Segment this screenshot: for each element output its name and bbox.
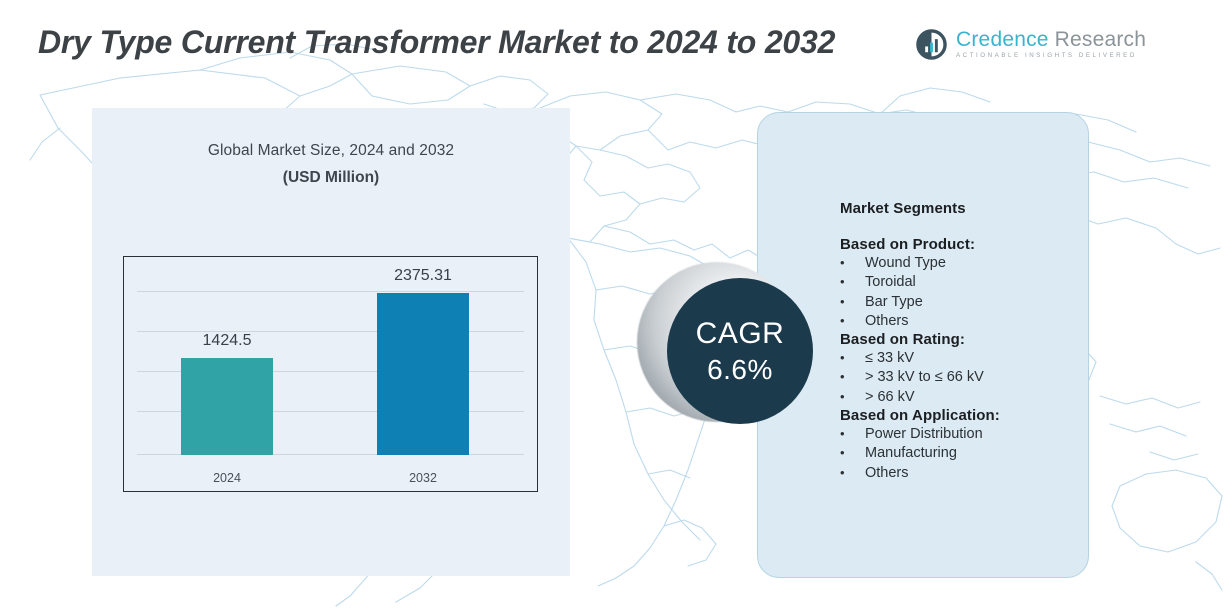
segments-title: Market Segments xyxy=(840,200,1090,217)
segment-item: •Power Distribution xyxy=(840,425,1090,444)
infographic-canvas: Dry Type Current Transformer Market to 2… xyxy=(0,0,1232,610)
cagr-label: CAGR xyxy=(696,319,785,349)
segment-item-label: Wound Type xyxy=(865,254,946,273)
segment-group-heading: Based on Product: xyxy=(840,236,1090,253)
segment-item-label: Power Distribution xyxy=(865,425,983,444)
segment-item: •> 33 kV to ≤ 66 kV xyxy=(840,368,1090,387)
market-segments: Market Segments Based on Product:•Wound … xyxy=(840,200,1090,483)
segment-item: •Wound Type xyxy=(840,254,1090,273)
segment-item: •> 66 kV xyxy=(840,388,1090,407)
bar-group-2032: 2375.312032 xyxy=(377,293,469,455)
bullet-icon: • xyxy=(840,273,865,290)
segment-item: •Others xyxy=(840,312,1090,331)
bar-group-2024: 1424.52024 xyxy=(181,358,273,455)
logo-tagline: Actionable Insights Delivered xyxy=(956,53,1146,59)
segment-item-label: > 33 kV to ≤ 66 kV xyxy=(865,368,984,387)
chart-caption-line1: Global Market Size, 2024 and 2032 xyxy=(92,142,570,160)
segment-item: •≤ 33 kV xyxy=(840,349,1090,368)
bar-value-label: 2375.31 xyxy=(394,267,452,285)
segment-item: •Bar Type xyxy=(840,293,1090,312)
segment-item: •Manufacturing xyxy=(840,444,1090,463)
page-title: Dry Type Current Transformer Market to 2… xyxy=(38,22,898,63)
cagr-value: 6.6% xyxy=(707,356,773,384)
bar-value-label: 1424.5 xyxy=(203,332,252,350)
segment-group: Based on Application:•Power Distribution… xyxy=(840,407,1090,483)
bar-category-label: 2032 xyxy=(409,471,437,485)
segment-item-label: Bar Type xyxy=(865,293,923,312)
segment-item-label: ≤ 33 kV xyxy=(865,349,914,368)
segment-item-label: Others xyxy=(865,464,909,483)
bullet-icon: • xyxy=(840,464,865,481)
segment-item-label: Others xyxy=(865,312,909,331)
segment-group: Based on Product:•Wound Type•Toroidal•Ba… xyxy=(840,236,1090,331)
logo-brand-primary: Credence xyxy=(956,29,1049,50)
segment-group-heading: Based on Rating: xyxy=(840,331,1090,348)
brand-logo[interactable]: Credence Research Actionable Insights De… xyxy=(916,29,1146,60)
chart-plot-area: 1424.520242375.312032 xyxy=(124,257,537,491)
bullet-icon: • xyxy=(840,349,865,366)
segment-group-heading: Based on Application: xyxy=(840,407,1090,424)
cagr-circle: CAGR 6.6% xyxy=(667,278,813,424)
chart-caption: Global Market Size, 2024 and 2032 (USD M… xyxy=(92,142,570,187)
bullet-icon: • xyxy=(840,312,865,329)
bar-category-label: 2024 xyxy=(213,471,241,485)
cagr-badge: CAGR 6.6% xyxy=(637,262,827,438)
bar xyxy=(181,358,273,455)
bar-chart-circle-icon xyxy=(916,29,947,60)
bullet-icon: • xyxy=(840,425,865,442)
bar xyxy=(377,293,469,455)
logo-text-block: Credence Research Actionable Insights De… xyxy=(956,29,1146,59)
segment-item-label: > 66 kV xyxy=(865,388,915,407)
bar-chart: 1424.520242375.312032 xyxy=(123,256,538,492)
segment-item: •Toroidal xyxy=(840,273,1090,292)
segment-item-label: Manufacturing xyxy=(865,444,957,463)
bullet-icon: • xyxy=(840,388,865,405)
chart-caption-line2: (USD Million) xyxy=(92,169,570,187)
logo-brand-secondary: Research xyxy=(1055,29,1146,50)
segment-groups: Based on Product:•Wound Type•Toroidal•Ba… xyxy=(840,236,1090,483)
segment-item: •Others xyxy=(840,464,1090,483)
segment-item-label: Toroidal xyxy=(865,273,916,292)
bullet-icon: • xyxy=(840,293,865,310)
bullet-icon: • xyxy=(840,254,865,271)
bullet-icon: • xyxy=(840,444,865,461)
bullet-icon: • xyxy=(840,368,865,385)
segment-group: Based on Rating:•≤ 33 kV•> 33 kV to ≤ 66… xyxy=(840,331,1090,407)
